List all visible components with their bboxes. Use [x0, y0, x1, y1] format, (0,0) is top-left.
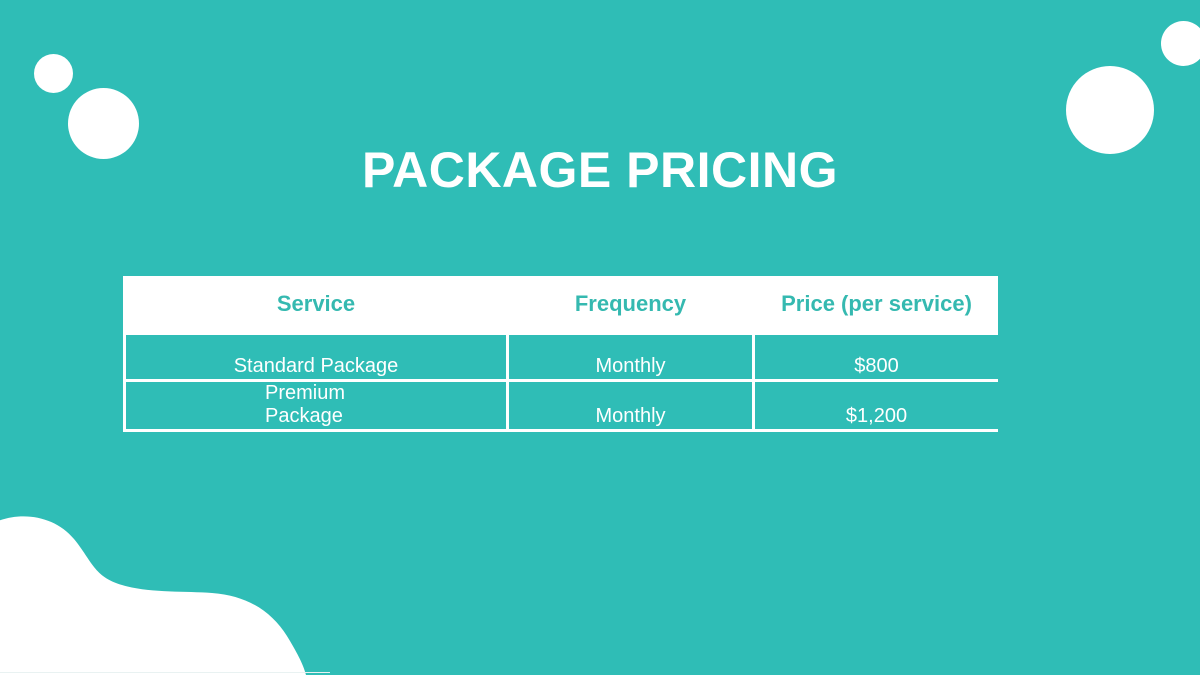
cell-service-text: Standard Package: [126, 355, 506, 378]
table-row[interactable]: Standard Package Monthly $800: [125, 333, 1000, 380]
table-overflow-clip-mask: [998, 265, 1200, 440]
page-title: PACKAGE PRICING: [0, 143, 1200, 198]
pricing-table[interactable]: Service Frequency Price (per service) St…: [123, 276, 1001, 432]
circle-decoration-top-right-small: [1161, 21, 1200, 66]
cell-price-text: $1,200: [755, 405, 998, 428]
cell-service[interactable]: Standard Package: [125, 333, 508, 380]
column-header-service[interactable]: Service: [125, 276, 508, 333]
circle-decoration-top-right-large: [1066, 66, 1154, 154]
cell-service-text: Premium Package: [217, 382, 415, 428]
cell-frequency-text: Monthly: [509, 405, 752, 428]
cell-service[interactable]: Premium Package: [125, 380, 508, 430]
table-row[interactable]: Premium Package Monthly $1,200: [125, 380, 1000, 430]
wave-blob-decoration: [0, 495, 338, 675]
slide-canvas: PACKAGE PRICING Service Frequency Price …: [0, 0, 1200, 675]
cell-frequency[interactable]: Monthly: [508, 333, 754, 380]
cell-frequency-text: Monthly: [509, 355, 752, 378]
cell-price[interactable]: $1,200: [754, 380, 1000, 430]
cell-price[interactable]: $800: [754, 333, 1000, 380]
column-header-frequency[interactable]: Frequency: [508, 276, 754, 333]
circle-decoration-top-left-small: [34, 54, 73, 93]
pricing-table-container: Service Frequency Price (per service) St…: [123, 276, 998, 428]
column-header-price[interactable]: Price (per service): [754, 276, 1000, 333]
cell-frequency[interactable]: Monthly: [508, 380, 754, 430]
slide-bottom-divider: [0, 672, 330, 673]
cell-price-text: $800: [755, 355, 998, 378]
table-header-row: Service Frequency Price (per service): [125, 276, 1000, 333]
